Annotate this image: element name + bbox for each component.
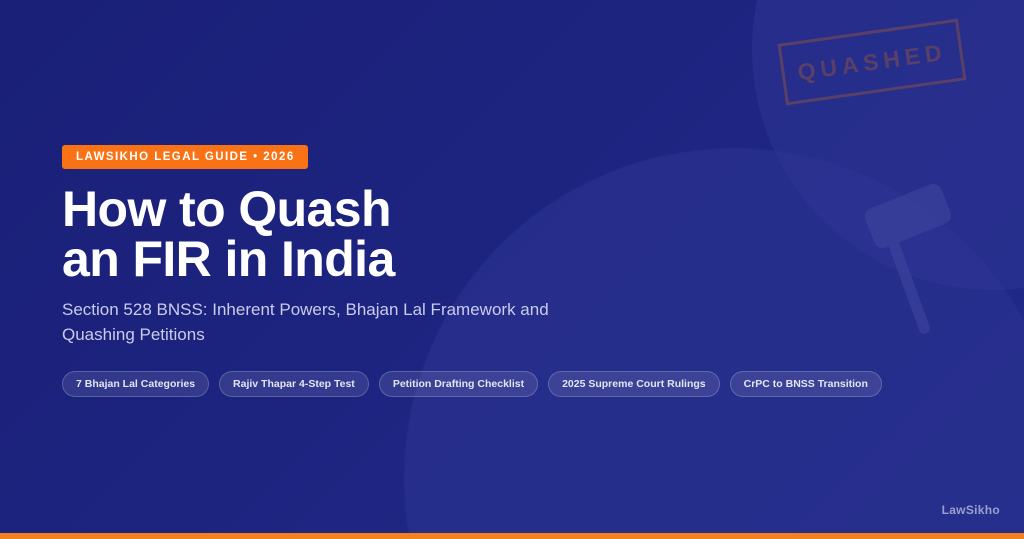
bottom-accent-bar (0, 533, 1024, 539)
brand-watermark: LawSikho (942, 503, 1000, 517)
guide-badge: LAWSIKHO LEGAL GUIDE • 2026 (62, 145, 308, 169)
hero-content: LAWSIKHO LEGAL GUIDE • 2026 How to Quash… (62, 0, 782, 539)
page-subtitle: Section 528 BNSS: Inherent Powers, Bhaja… (62, 297, 582, 347)
topic-chip[interactable]: 7 Bhajan Lal Categories (62, 371, 209, 397)
topic-chip[interactable]: 2025 Supreme Court Rulings (548, 371, 720, 397)
topic-chip-list: 7 Bhajan Lal Categories Rajiv Thapar 4-S… (62, 371, 882, 397)
topic-chip[interactable]: Petition Drafting Checklist (379, 371, 538, 397)
quashed-stamp: QUASHED (778, 19, 967, 106)
hero-banner: QUASHED LAWSIKHO LEGAL GUIDE • 2026 How … (0, 0, 1024, 539)
topic-chip[interactable]: Rajiv Thapar 4-Step Test (219, 371, 369, 397)
gavel-icon (845, 175, 985, 345)
page-title: How to Quash an FIR in India (62, 184, 395, 284)
quashed-stamp-label: QUASHED (796, 38, 948, 86)
topic-chip[interactable]: CrPC to BNSS Transition (730, 371, 882, 397)
